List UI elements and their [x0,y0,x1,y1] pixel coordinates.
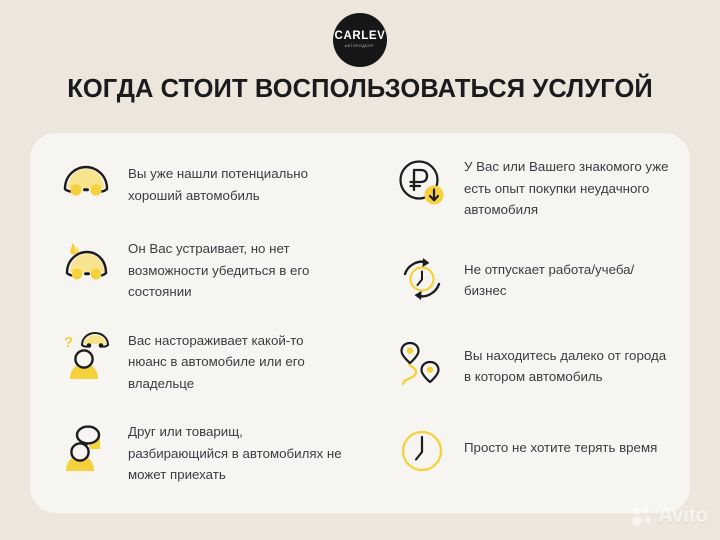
logo-sub-text: АВТОПОДБОР [345,45,375,48]
left-column: Вы уже нашли потенциально хороший автомо… [30,133,360,513]
car-front-icon [58,155,114,211]
logo-main-text: CARLEV [335,31,386,43]
benefits-card: Вы уже нашли потенциально хороший автомо… [30,133,690,513]
carlev-circle-logo: CARLEV АВТОПОДБОР [333,13,387,67]
person-question-car-icon: ? [58,329,114,385]
right-column: У Вас или Вашего знакомого уже есть опыт… [360,133,690,513]
list-item-text: Не отпускает работа/учеба/ бизнес [464,251,676,302]
list-item: Вы уже нашли потенциально хороший автомо… [58,155,342,211]
page-title: КОГДА СТОИТ ВОСПОЛЬЗОВАТЬСЯ УСЛУГОЙ [0,75,720,104]
list-item-text: Друг или товарищ, разбирающийся в автомо… [128,420,342,486]
list-item-text: Он Вас устраивает, но нет возможности уб… [128,237,342,303]
avito-watermark: Avito [631,504,708,528]
svg-text:?: ? [64,334,73,351]
ruble-down-arrow-icon [394,155,450,211]
avito-dots-icon [631,506,653,526]
list-item: Друг или товарищ, разбирающийся в автомо… [58,420,342,486]
list-item: Не отпускает работа/учеба/ бизнес [394,251,676,307]
avito-watermark-text: Avito [658,504,708,528]
car-smoke-icon [58,237,114,293]
list-item: ? Вас настораживает какой-то нюанс в авт… [58,329,342,395]
list-item-text: Просто не хотите терять время [464,423,657,459]
clock-icon [394,423,450,479]
brand-logo: CARLEV АВТОПОДБОР [0,13,720,67]
list-item: Вы находитесь далеко от города в котором… [394,337,676,393]
map-route-pins-icon [394,337,450,393]
list-item-text: Вас настораживает какой-то нюанс в автом… [128,329,342,395]
list-item: У Вас или Вашего знакомого уже есть опыт… [394,155,676,221]
clock-refresh-icon [394,251,450,307]
list-item-text: У Вас или Вашего знакомого уже есть опыт… [464,155,676,221]
person-speech-bubble-icon [58,420,114,476]
list-item-text: Вы уже нашли потенциально хороший автомо… [128,155,342,206]
list-item-text: Вы находитесь далеко от города в котором… [464,337,676,388]
list-item: Он Вас устраивает, но нет возможности уб… [58,237,342,303]
list-item: Просто не хотите терять время [394,423,676,479]
